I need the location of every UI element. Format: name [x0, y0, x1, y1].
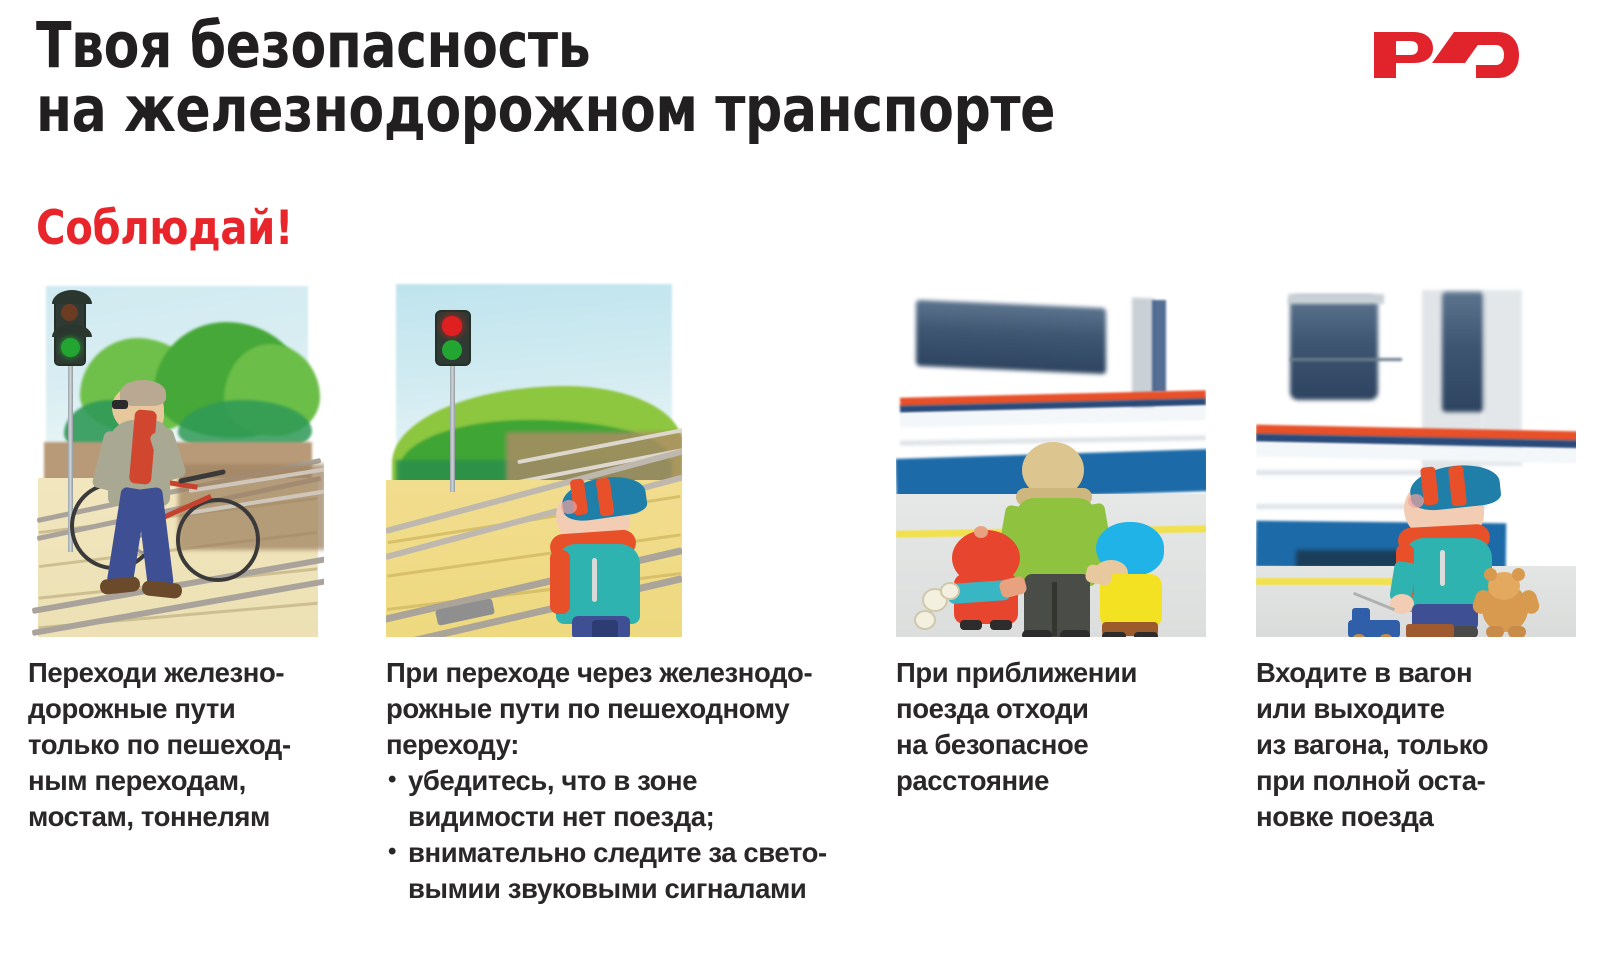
child-mitten-bag — [592, 620, 618, 637]
panel-safe-distance: При приближении поезда отходи на безопас… — [896, 282, 1196, 799]
teddy-bear-ear — [1512, 568, 1525, 581]
bullet-line: убедитесь, что в зоне — [408, 763, 856, 799]
toy-wooden-block — [1406, 624, 1454, 637]
poster-root: Твоя безопасность на железнодорожном тра… — [0, 0, 1612, 960]
train-window-top-frame — [1288, 294, 1384, 304]
child-right-shoe — [1102, 632, 1126, 637]
signal-lamp-red-off — [61, 304, 78, 321]
bicycle-front-wheel — [176, 498, 260, 582]
illustration-child-at-traffic-light — [386, 282, 682, 637]
bullet-line: вымии звуковыми сигналами — [408, 871, 856, 907]
jacket-zipper — [1440, 550, 1445, 586]
caption-line: новке поезда — [1256, 799, 1586, 835]
child-right-shoe — [1134, 632, 1158, 637]
panel-caption: При переходе через железнодо- рожные пут… — [386, 655, 856, 907]
caption-line: поезда отходи — [896, 691, 1196, 727]
trouser-crease — [1052, 582, 1057, 636]
child-left-shoe — [960, 620, 982, 630]
title-line-1: Твоя безопасность — [36, 14, 1055, 78]
toy-train-cab — [1352, 608, 1370, 624]
adult-shoe-left — [1022, 630, 1052, 637]
train-window-large — [916, 300, 1106, 374]
panel-grid: Переходи железно- дорожные пути только п… — [0, 282, 1612, 942]
panel-caption: Входите в вагон или выходите из вагона, … — [1256, 655, 1586, 835]
caption-line: переходу: — [386, 727, 856, 763]
caption-line: расстояние — [896, 763, 1196, 799]
caption-line: на безопасное — [896, 727, 1196, 763]
illustration-man-with-bicycle — [28, 282, 324, 637]
child-left-shoe — [990, 620, 1012, 630]
caption-line: При переходе через железнодо- — [386, 655, 856, 691]
bullet-line: внимательно следите за свето- — [408, 835, 856, 871]
hat-earflap — [622, 482, 640, 502]
train-pillar-shadow — [1152, 300, 1166, 392]
caption-line: или выходите — [1256, 691, 1586, 727]
train-body-line — [1290, 358, 1402, 361]
caption-line: из вагона, только — [1256, 727, 1586, 763]
child-cheek — [561, 500, 577, 514]
traffic-light-pole — [450, 352, 455, 492]
teddy-bear-foot — [1486, 626, 1504, 637]
panel-caption: Переходи железно- дорожные пути только п… — [28, 655, 328, 835]
toy-train-wheel — [1380, 634, 1392, 637]
jacket-zipper — [592, 558, 597, 602]
toy-train-wheel — [1353, 634, 1365, 637]
caption-line: рожные пути по пешеходному — [386, 691, 856, 727]
bullet-item: внимательно следите за свето- вымии звук… — [386, 835, 856, 907]
rzd-logo-icon — [1370, 16, 1520, 82]
caption-line: дорожные пути — [28, 691, 328, 727]
train-window-right — [1442, 292, 1484, 412]
caption-line: При приближении — [896, 655, 1196, 691]
teddy-bear-ear — [1484, 568, 1497, 581]
caption-line: Входите в вагон — [1256, 655, 1586, 691]
caption-bullet-list: убедитесь, что в зоне видимости нет поез… — [386, 763, 856, 907]
poster-header: Твоя безопасность на железнодорожном тра… — [0, 0, 1612, 190]
illustration-family-near-train — [896, 282, 1206, 637]
panel-pedestrian-crossing: Переходи железно- дорожные пути только п… — [28, 282, 328, 835]
signal-lamp-green-on — [61, 338, 80, 357]
subtitle-sloblyudai: Соблюдай! — [36, 204, 293, 254]
caption-line: только по пешеход- — [28, 727, 328, 763]
title-line-2: на железнодорожном транспорте — [36, 78, 1055, 142]
man-glasses — [112, 400, 128, 409]
train-window-left — [1290, 296, 1378, 400]
hat-earflap — [1478, 474, 1498, 496]
rzd-logo — [1370, 16, 1520, 82]
bullet-line: видимости нет поезда; — [408, 799, 856, 835]
caption-line: Переходи железно- — [28, 655, 328, 691]
adult-trousers — [1024, 574, 1090, 637]
toy-dog-tail — [940, 582, 960, 600]
illustration-child-with-toys-at-train — [1256, 282, 1576, 637]
panel-caption: При приближении поезда отходи на безопас… — [896, 655, 1196, 799]
panel-crossing-signals: При переходе через железнодо- рожные пут… — [386, 282, 856, 907]
caption-line: мостам, тоннелям — [28, 799, 328, 835]
child-left-pompom — [974, 526, 988, 538]
child-scarf-tail — [550, 550, 570, 614]
caption-line: при полной оста- — [1256, 763, 1586, 799]
page-title: Твоя безопасность на железнодорожном тра… — [36, 14, 1144, 142]
toy-dog-head — [914, 610, 936, 630]
signal-lamp-red-on — [442, 316, 462, 336]
adult-shoe-right — [1060, 630, 1090, 637]
child-cheek — [1408, 494, 1424, 508]
caption-line: ным переходам, — [28, 763, 328, 799]
panel-boarding: Входите в вагон или выходите из вагона, … — [1256, 282, 1586, 835]
signal-lamp-green-off — [442, 340, 462, 360]
bullet-item: убедитесь, что в зоне видимости нет поез… — [386, 763, 856, 835]
teddy-bear-foot — [1508, 626, 1526, 637]
